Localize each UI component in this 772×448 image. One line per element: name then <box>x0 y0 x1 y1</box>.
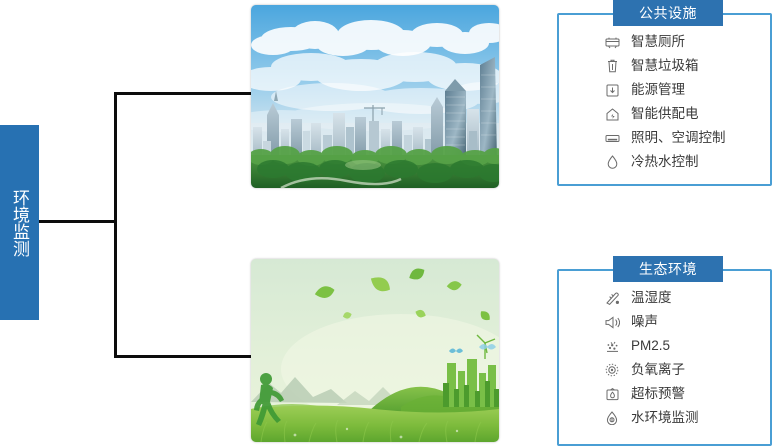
list-item-temperature-humidity[interactable]: 温湿度 <box>602 286 772 310</box>
list-item-label: 冷热水控制 <box>631 154 699 170</box>
list-item-smart-toilet[interactable]: 智慧厕所 <box>602 30 772 54</box>
smart-toilet-icon <box>602 34 622 50</box>
list-item-label: 水环境监测 <box>631 410 699 426</box>
list-item-over-limit-alarm[interactable]: 超标预警 <box>602 382 772 406</box>
list-item-pm25[interactable]: PM2.5 <box>602 334 772 358</box>
list-item-label: 噪声 <box>631 314 658 330</box>
panel-ecological-environment: 生态环境 温湿度 噪声 <box>557 256 772 446</box>
list-item-label: 智慧厕所 <box>631 34 685 50</box>
noise-icon <box>602 314 622 330</box>
list-item-energy-management[interactable]: 能源管理 <box>602 78 772 102</box>
hot-cold-water-control-icon <box>602 154 622 170</box>
list-item-label: 超标预警 <box>631 386 685 402</box>
list-item-label: 照明、空调控制 <box>631 130 726 146</box>
connector-branch-top <box>114 92 255 95</box>
root-node-label: 环境监测 <box>7 189 32 257</box>
smart-power-supply-icon <box>602 106 622 122</box>
lighting-ac-control-icon <box>602 130 622 146</box>
list-item-label: PM2.5 <box>631 338 670 354</box>
energy-management-icon <box>602 82 622 98</box>
temperature-humidity-icon <box>602 290 622 306</box>
panel-public-facilities: 公共设施 智慧厕所 <box>557 0 772 186</box>
eco-landscape-illustration <box>251 259 499 442</box>
city-skyline-photo <box>251 5 499 188</box>
panel-public-facilities-title: 公共设施 <box>613 0 723 26</box>
list-item-hot-cold-water-control[interactable]: 冷热水控制 <box>602 150 772 174</box>
list-item-label: 智慧垃圾箱 <box>631 58 699 74</box>
green-eco-landscape-photo <box>251 259 499 442</box>
root-node-environment-monitoring: 环境监测 <box>0 125 39 320</box>
list-item-lighting-ac-control[interactable]: 照明、空调控制 <box>602 126 772 150</box>
public-facilities-feature-list: 智慧厕所 智慧垃圾箱 <box>557 13 772 186</box>
smart-trash-bin-icon <box>602 58 622 74</box>
list-item-label: 能源管理 <box>631 82 685 98</box>
list-item-smart-trash-bin[interactable]: 智慧垃圾箱 <box>602 54 772 78</box>
connector-trunk <box>114 92 117 358</box>
diagram-canvas: 环境监测 <box>0 0 772 448</box>
over-limit-alarm-icon <box>602 386 622 402</box>
pm25-icon <box>602 338 622 354</box>
panel-ecological-environment-title: 生态环境 <box>613 256 723 282</box>
list-item-label: 温湿度 <box>631 290 672 306</box>
connector-stem <box>39 220 117 223</box>
water-environment-monitoring-icon <box>602 410 622 426</box>
ecological-environment-feature-list: 温湿度 噪声 <box>557 269 772 446</box>
city-skyline-illustration <box>251 5 499 188</box>
list-item-water-environment-monitoring[interactable]: 水环境监测 <box>602 406 772 430</box>
list-item-noise[interactable]: 噪声 <box>602 310 772 334</box>
negative-oxygen-ion-icon <box>602 362 622 378</box>
list-item-label: 智能供配电 <box>631 106 699 122</box>
connector-branch-bottom <box>114 355 255 358</box>
list-item-label: 负氧离子 <box>631 362 685 378</box>
list-item-smart-power-supply[interactable]: 智能供配电 <box>602 102 772 126</box>
list-item-negative-oxygen-ion[interactable]: 负氧离子 <box>602 358 772 382</box>
